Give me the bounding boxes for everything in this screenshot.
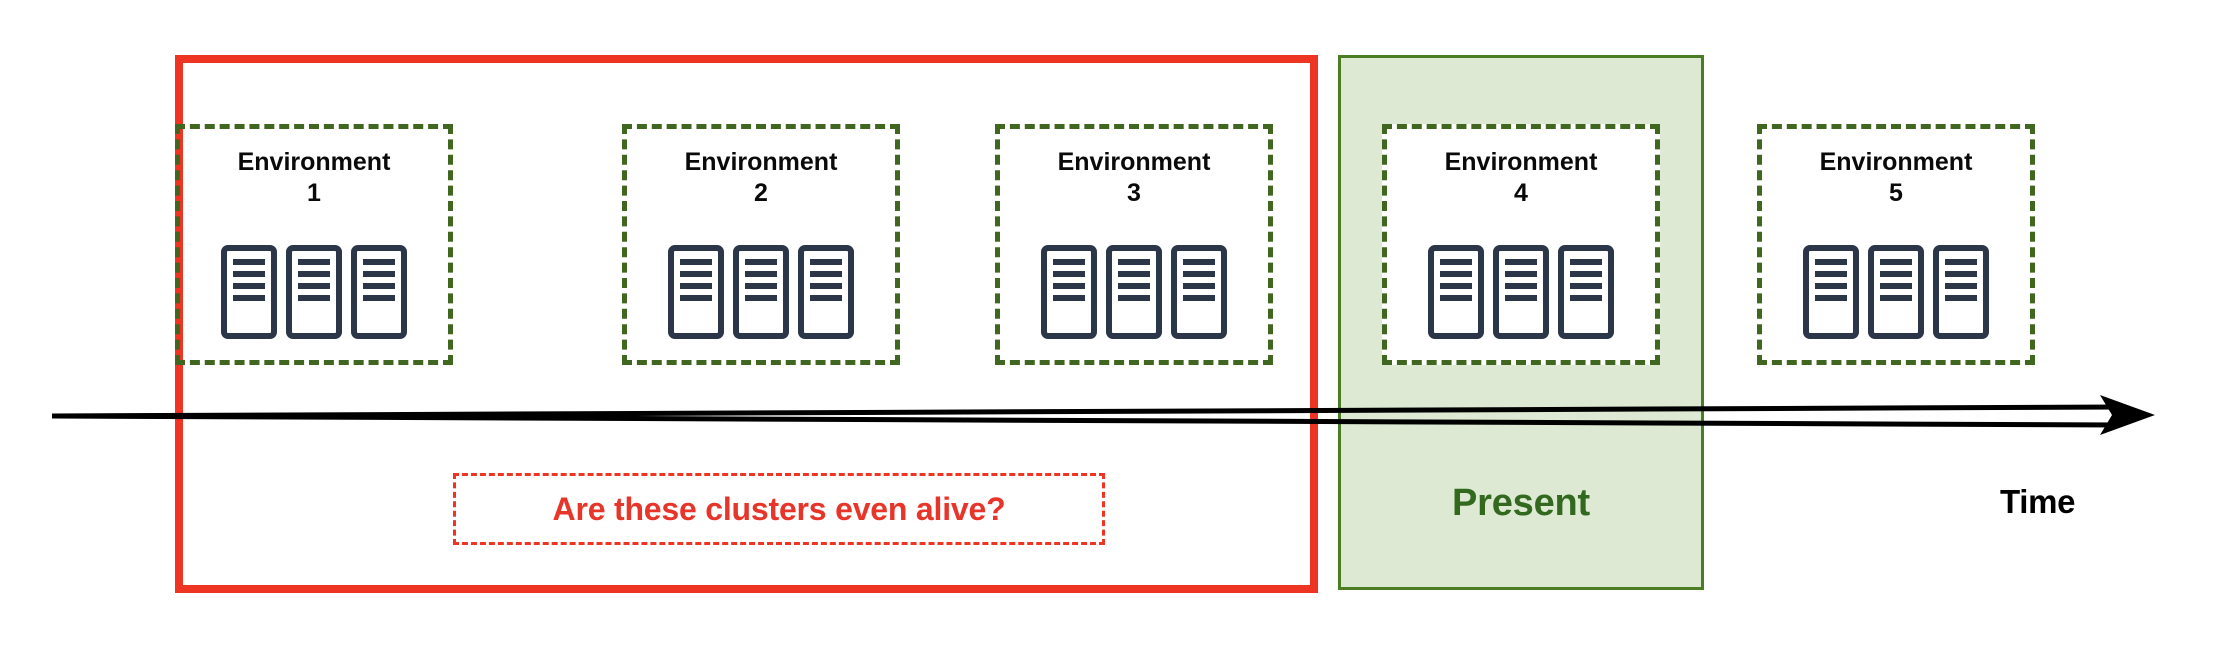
- server-icon: [1041, 245, 1097, 344]
- server-icon: [221, 245, 277, 344]
- server-icon: [668, 245, 724, 344]
- server-group-4: [1387, 245, 1655, 344]
- environment-label-5: Environment 5: [1762, 147, 2030, 209]
- server-icon: [1171, 245, 1227, 344]
- server-icon: [1868, 245, 1924, 344]
- environment-label-1: Environment 1: [180, 147, 448, 209]
- server-icon: [1428, 245, 1484, 344]
- server-icon: [351, 245, 407, 344]
- question-annotation-text: Are these clusters even alive?: [553, 491, 1006, 528]
- server-icon: [798, 245, 854, 344]
- environment-label-4: Environment 4: [1387, 147, 1655, 209]
- timeline-diagram: Environment 1 Environment 2 Environment …: [0, 0, 2214, 670]
- server-icon: [286, 245, 342, 344]
- server-icon: [1933, 245, 1989, 344]
- time-axis-label: Time: [2000, 483, 2075, 521]
- environment-card-1: Environment 1: [175, 124, 453, 365]
- environment-label-3: Environment 3: [1000, 147, 1268, 209]
- server-icon: [1558, 245, 1614, 344]
- server-icon: [1803, 245, 1859, 344]
- environment-card-3: Environment 3: [995, 124, 1273, 365]
- server-group-5: [1762, 245, 2030, 344]
- environment-card-2: Environment 2: [622, 124, 900, 365]
- server-icon: [733, 245, 789, 344]
- environment-label-2: Environment 2: [627, 147, 895, 209]
- environment-card-4: Environment 4: [1382, 124, 1660, 365]
- server-group-1: [180, 245, 448, 344]
- present-region-label: Present: [1338, 482, 1704, 525]
- question-annotation-box: Are these clusters even alive?: [453, 473, 1105, 545]
- environment-card-5: Environment 5: [1757, 124, 2035, 365]
- server-icon: [1493, 245, 1549, 344]
- server-icon: [1106, 245, 1162, 344]
- server-group-3: [1000, 245, 1268, 344]
- server-group-2: [627, 245, 895, 344]
